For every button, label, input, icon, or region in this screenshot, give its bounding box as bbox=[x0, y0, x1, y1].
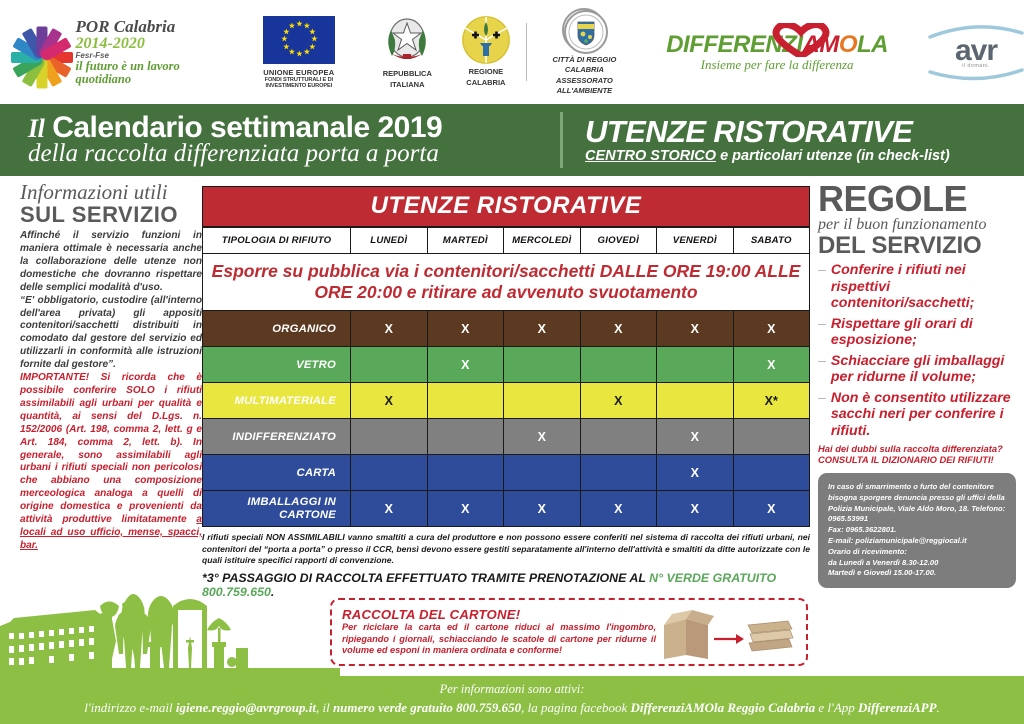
avr-swoosh-bottom-icon bbox=[928, 68, 1024, 82]
eu-flag-icon: ★★★★★★★★★★★★ bbox=[263, 16, 335, 64]
footer-numero-verde: numero verde gratuito 800.759.650 bbox=[333, 700, 521, 715]
cell-carta-martedi bbox=[427, 455, 504, 491]
footer-email[interactable]: igiene.reggio@avrgroup.it bbox=[176, 700, 316, 715]
cardboard-paragraph: Per riciclare la carta ed il cartone rid… bbox=[342, 622, 656, 658]
row-label-imballaggi: IMBALLAGGI IN CARTONE bbox=[203, 491, 351, 527]
logo-regione-calabria: REGIONE CALABRIA bbox=[462, 16, 510, 87]
cell-indifferenziato-martedi bbox=[427, 419, 504, 455]
poster-page: POR Calabria 2014-2020 Fesr-Fse il futur… bbox=[0, 0, 1024, 724]
logo-differenziamola: DIFFERENZIAMOLA Insieme per fare la diff… bbox=[666, 31, 888, 73]
left-heading-script: Informazioni utili bbox=[20, 182, 202, 203]
cell-imballaggi-giovedi: X bbox=[580, 491, 657, 527]
row-label-carta: CARTA bbox=[203, 455, 351, 491]
title-main: Calendario settimanale 2019 bbox=[52, 111, 442, 144]
cell-multimateriale-giovedi: X bbox=[580, 383, 657, 419]
title-banner: Il Calendario settimanale 2019 della rac… bbox=[0, 104, 1024, 176]
logo-repubblica-italiana: REPUBBLICA ITALIANA bbox=[383, 14, 432, 89]
col-martedi: MARTEDÌ bbox=[427, 228, 504, 254]
cell-carta-giovedi bbox=[580, 455, 657, 491]
title-left: Il Calendario settimanale 2019 della rac… bbox=[0, 113, 560, 168]
cell-organico-lunedi: X bbox=[351, 311, 428, 347]
cell-indifferenziato-giovedi bbox=[580, 419, 657, 455]
eu-caption2: FONDI STRUTTURALI E DI INVESTIMENTO EURO… bbox=[249, 77, 349, 89]
footer-a: l'indirizzo e-mail bbox=[84, 700, 176, 715]
logo-unione-europea: ★★★★★★★★★★★★ UNIONE EUROPEA FONDI STRUTT… bbox=[249, 16, 349, 89]
title-right-sub: CENTRO STORICO e particolari utenze (in … bbox=[585, 148, 950, 164]
rule-text-1: Conferire i rifiuti nei rispettivi conte… bbox=[831, 262, 1016, 311]
footer-line-1: Per informazioni sono attivi: bbox=[0, 682, 1024, 697]
flattened-cardboard-icon bbox=[748, 621, 793, 651]
exposure-banner: Esporre su pubblica via i contenitori/sa… bbox=[203, 254, 810, 311]
col-lunedi: LUNEDÌ bbox=[351, 228, 428, 254]
table-row-carta: CARTA X bbox=[203, 455, 810, 491]
eu-caption1: UNIONE EUROPEA bbox=[249, 68, 349, 77]
title-script-word: Il bbox=[28, 114, 44, 143]
cell-imballaggi-lunedi: X bbox=[351, 491, 428, 527]
cell-multimateriale-venerdi bbox=[657, 383, 734, 419]
rule-item-3: – Schiacciare gli imballaggi per ridurne… bbox=[818, 353, 1016, 386]
row-label-vetro: VETRO bbox=[203, 347, 351, 383]
cell-indifferenziato-mercoledi: X bbox=[504, 419, 581, 455]
cell-multimateriale-lunedi: X bbox=[351, 383, 428, 419]
cell-imballaggi-venerdi: X bbox=[657, 491, 734, 527]
rule-dash-icon: – bbox=[818, 353, 826, 386]
diff-part3: O bbox=[839, 31, 857, 58]
logo-avr: avr il domani. bbox=[928, 23, 1024, 82]
right-rules-column: REGOLE per il buon funzionamento DEL SER… bbox=[818, 182, 1016, 588]
table-header-row: TIPOLOGIA DI RIFIUTO LUNEDÌ MARTEDÌ MERC… bbox=[203, 228, 810, 254]
cell-multimateriale-sabato: X* bbox=[733, 383, 810, 419]
footer-b: , il bbox=[316, 700, 333, 715]
citta-caption: CITTÀ DI REGGIO CALABRIA ASSESSORATO ALL… bbox=[543, 55, 627, 97]
col-mercoledi: MERCOLEDÌ bbox=[504, 228, 581, 254]
cardboard-callout: RACCOLTA DEL CARTONE! Per riciclare la c… bbox=[330, 598, 808, 666]
title-right-rest: e particolari utenze (in check-list) bbox=[716, 148, 950, 164]
cell-vetro-martedi: X bbox=[427, 347, 504, 383]
logo-por-calabria: POR Calabria 2014-2020 Fesr-Fse il futur… bbox=[18, 18, 193, 85]
cell-vetro-lunedi bbox=[351, 347, 428, 383]
rule-text-3: Schiacciare gli imballaggi per ridurne i… bbox=[831, 353, 1016, 386]
cell-multimateriale-mercoledi bbox=[504, 383, 581, 419]
rule-text-2: Rispettare gli orari di esposizione; bbox=[831, 316, 1016, 349]
footer-app[interactable]: DifferenziAPP bbox=[858, 700, 936, 715]
cardboard-illustration bbox=[656, 603, 796, 661]
cell-carta-venerdi: X bbox=[657, 455, 734, 491]
heart-icon bbox=[770, 23, 832, 57]
dictionary-question: Hai dei dubbi sulla raccolta differenzia… bbox=[818, 443, 1016, 454]
table-title: UTENZE RISTORATIVE bbox=[202, 186, 810, 227]
cell-carta-lunedi bbox=[351, 455, 428, 491]
col-giovedi: GIOVEDÌ bbox=[580, 228, 657, 254]
cell-organico-giovedi: X bbox=[580, 311, 657, 347]
cell-organico-sabato: X bbox=[733, 311, 810, 347]
logo-divider bbox=[526, 23, 527, 81]
rule-dash-icon: – bbox=[818, 262, 826, 311]
title-right-main: UTENZE RISTORATIVE bbox=[585, 116, 950, 148]
rule-text-4: Non è consentito utilizzare sacchi neri … bbox=[831, 390, 1016, 439]
logo-citta-reggio-calabria: CITTÀ DI REGGIO CALABRIA ASSESSORATO ALL… bbox=[543, 8, 627, 97]
differenziamola-tagline: Insieme per fare la differenza bbox=[666, 57, 888, 73]
row-label-indifferenziato: INDIFFERENZIATO bbox=[203, 419, 351, 455]
table-note-1: I rifiuti speciali NON ASSIMILABILI vann… bbox=[202, 532, 810, 566]
por-line1: POR Calabria bbox=[76, 18, 193, 35]
cell-indifferenziato-venerdi: X bbox=[657, 419, 734, 455]
cell-indifferenziato-sabato bbox=[733, 419, 810, 455]
row-label-multimateriale: MULTIMATERIALE bbox=[203, 383, 351, 419]
title-sub: della raccolta differenziata porta a por… bbox=[28, 141, 560, 167]
table-row-multimateriale: MULTIMATERIALE X X X* bbox=[203, 383, 810, 419]
table-row-indifferenziato: INDIFFERENZIATO X X bbox=[203, 419, 810, 455]
rule-dash-icon: – bbox=[818, 390, 826, 439]
avr-wordmark: avr bbox=[928, 36, 1024, 66]
lost-container-infobox: In caso di smarrimento o furto del conte… bbox=[818, 473, 1016, 588]
repubblica-caption: REPUBBLICA ITALIANA bbox=[383, 69, 432, 89]
cell-vetro-giovedi bbox=[580, 347, 657, 383]
row-label-organico: ORGANICO bbox=[203, 311, 351, 347]
diff-part4: LA bbox=[857, 31, 888, 58]
cardboard-text-block: RACCOLTA DEL CARTONE! Per riciclare la c… bbox=[342, 607, 656, 658]
cell-vetro-mercoledi bbox=[504, 347, 581, 383]
rule-item-1: – Conferire i rifiuti nei rispettivi con… bbox=[818, 262, 1016, 311]
title-right: UTENZE RISTORATIVE CENTRO STORICO e part… bbox=[563, 116, 950, 164]
left-paragraph-1: Affinché il servizio funzioni in maniera… bbox=[20, 230, 202, 295]
cardboard-heading: RACCOLTA DEL CARTONE! bbox=[342, 607, 656, 622]
table-row-imballaggi-in-cartone: IMBALLAGGI IN CARTONE X X X X X X bbox=[203, 491, 810, 527]
regione-calabria-icon bbox=[462, 16, 510, 64]
cell-imballaggi-sabato: X bbox=[733, 491, 810, 527]
cell-multimateriale-martedi bbox=[427, 383, 504, 419]
rules-heading-1: REGOLE bbox=[818, 182, 1016, 216]
rules-heading-3: DEL SERVIZIO bbox=[818, 233, 1016, 258]
cell-carta-sabato bbox=[733, 455, 810, 491]
col-sabato: SABATO bbox=[733, 228, 810, 254]
logo-bar: POR Calabria 2014-2020 Fesr-Fse il futur… bbox=[0, 0, 1024, 104]
footer-c: , la pagina facebook bbox=[521, 700, 630, 715]
cell-organico-martedi: X bbox=[427, 311, 504, 347]
note2-black: *3° PASSAGGIO DI RACCOLTA EFFETTUATO TRA… bbox=[202, 571, 649, 585]
italian-emblem-icon bbox=[383, 14, 431, 66]
dictionary-answer: CONSULTA IL DIZIONARIO DEI RIFIUTI! bbox=[818, 454, 1016, 465]
rule-dash-icon: – bbox=[818, 316, 826, 349]
title-main-line: Il Calendario settimanale 2019 bbox=[28, 113, 560, 144]
rule-item-2: – Rispettare gli orari di esposizione; bbox=[818, 316, 1016, 349]
cell-carta-mercoledi bbox=[504, 455, 581, 491]
calendar-table-section: UTENZE RISTORATIVE TIPOLOGIA DI RIFIUTO … bbox=[202, 186, 810, 599]
table-row-organico: ORGANICO X X X X X X bbox=[203, 311, 810, 347]
col-tipologia: TIPOLOGIA DI RIFIUTO bbox=[203, 228, 351, 254]
cell-vetro-venerdi bbox=[657, 347, 734, 383]
col-venerdi: VENERDÌ bbox=[657, 228, 734, 254]
por-line2: 2014-2020 bbox=[76, 36, 193, 52]
left-para3-text: IMPORTANTE! Si ricorda che è possibile c… bbox=[20, 372, 202, 525]
exposure-banner-row: Esporre su pubblica via i contenitori/sa… bbox=[203, 254, 810, 311]
cell-organico-mercoledi: X bbox=[504, 311, 581, 347]
cell-organico-venerdi: X bbox=[657, 311, 734, 347]
footer-d: e l'App bbox=[815, 700, 858, 715]
cell-imballaggi-martedi: X bbox=[427, 491, 504, 527]
footer-facebook[interactable]: DifferenziAMOla Reggio Calabria bbox=[631, 700, 816, 715]
title-right-underline: CENTRO STORICO bbox=[585, 148, 716, 164]
rules-heading-2: per il buon funzionamento bbox=[818, 217, 1016, 233]
table-row-vetro: VETRO X X bbox=[203, 347, 810, 383]
pinwheel-icon bbox=[18, 19, 66, 85]
cell-imballaggi-mercoledi: X bbox=[504, 491, 581, 527]
left-info-column: Informazioni utili SUL SERVIZIO Affinché… bbox=[20, 182, 202, 553]
footer-e: . bbox=[937, 700, 940, 715]
footer-bar: Per informazioni sono attivi: l'indirizz… bbox=[0, 676, 1024, 724]
regione-caption: REGIONE CALABRIA bbox=[462, 67, 510, 87]
city-seal-icon bbox=[562, 8, 606, 52]
left-paragraph-3: IMPORTANTE! Si ricorda che è possibile c… bbox=[20, 372, 202, 553]
cell-vetro-sabato: X bbox=[733, 347, 810, 383]
left-paragraph-2: “E' obbligatorio, custodire (all'interno… bbox=[20, 295, 202, 372]
left-heading-bold: SUL SERVIZIO bbox=[20, 203, 202, 226]
city-skyline-illustration bbox=[0, 588, 340, 678]
collection-calendar-table: TIPOLOGIA DI RIFIUTO LUNEDÌ MARTEDÌ MERC… bbox=[202, 227, 810, 527]
por-line4: il futuro è un lavoro quotidiano bbox=[76, 60, 193, 86]
open-box-icon bbox=[664, 610, 714, 659]
footer-line-2: l'indirizzo e-mail igiene.reggio@avrgrou… bbox=[0, 700, 1024, 716]
rule-item-4: – Non è consentito utilizzare sacchi ner… bbox=[818, 390, 1016, 439]
cell-indifferenziato-lunedi bbox=[351, 419, 428, 455]
